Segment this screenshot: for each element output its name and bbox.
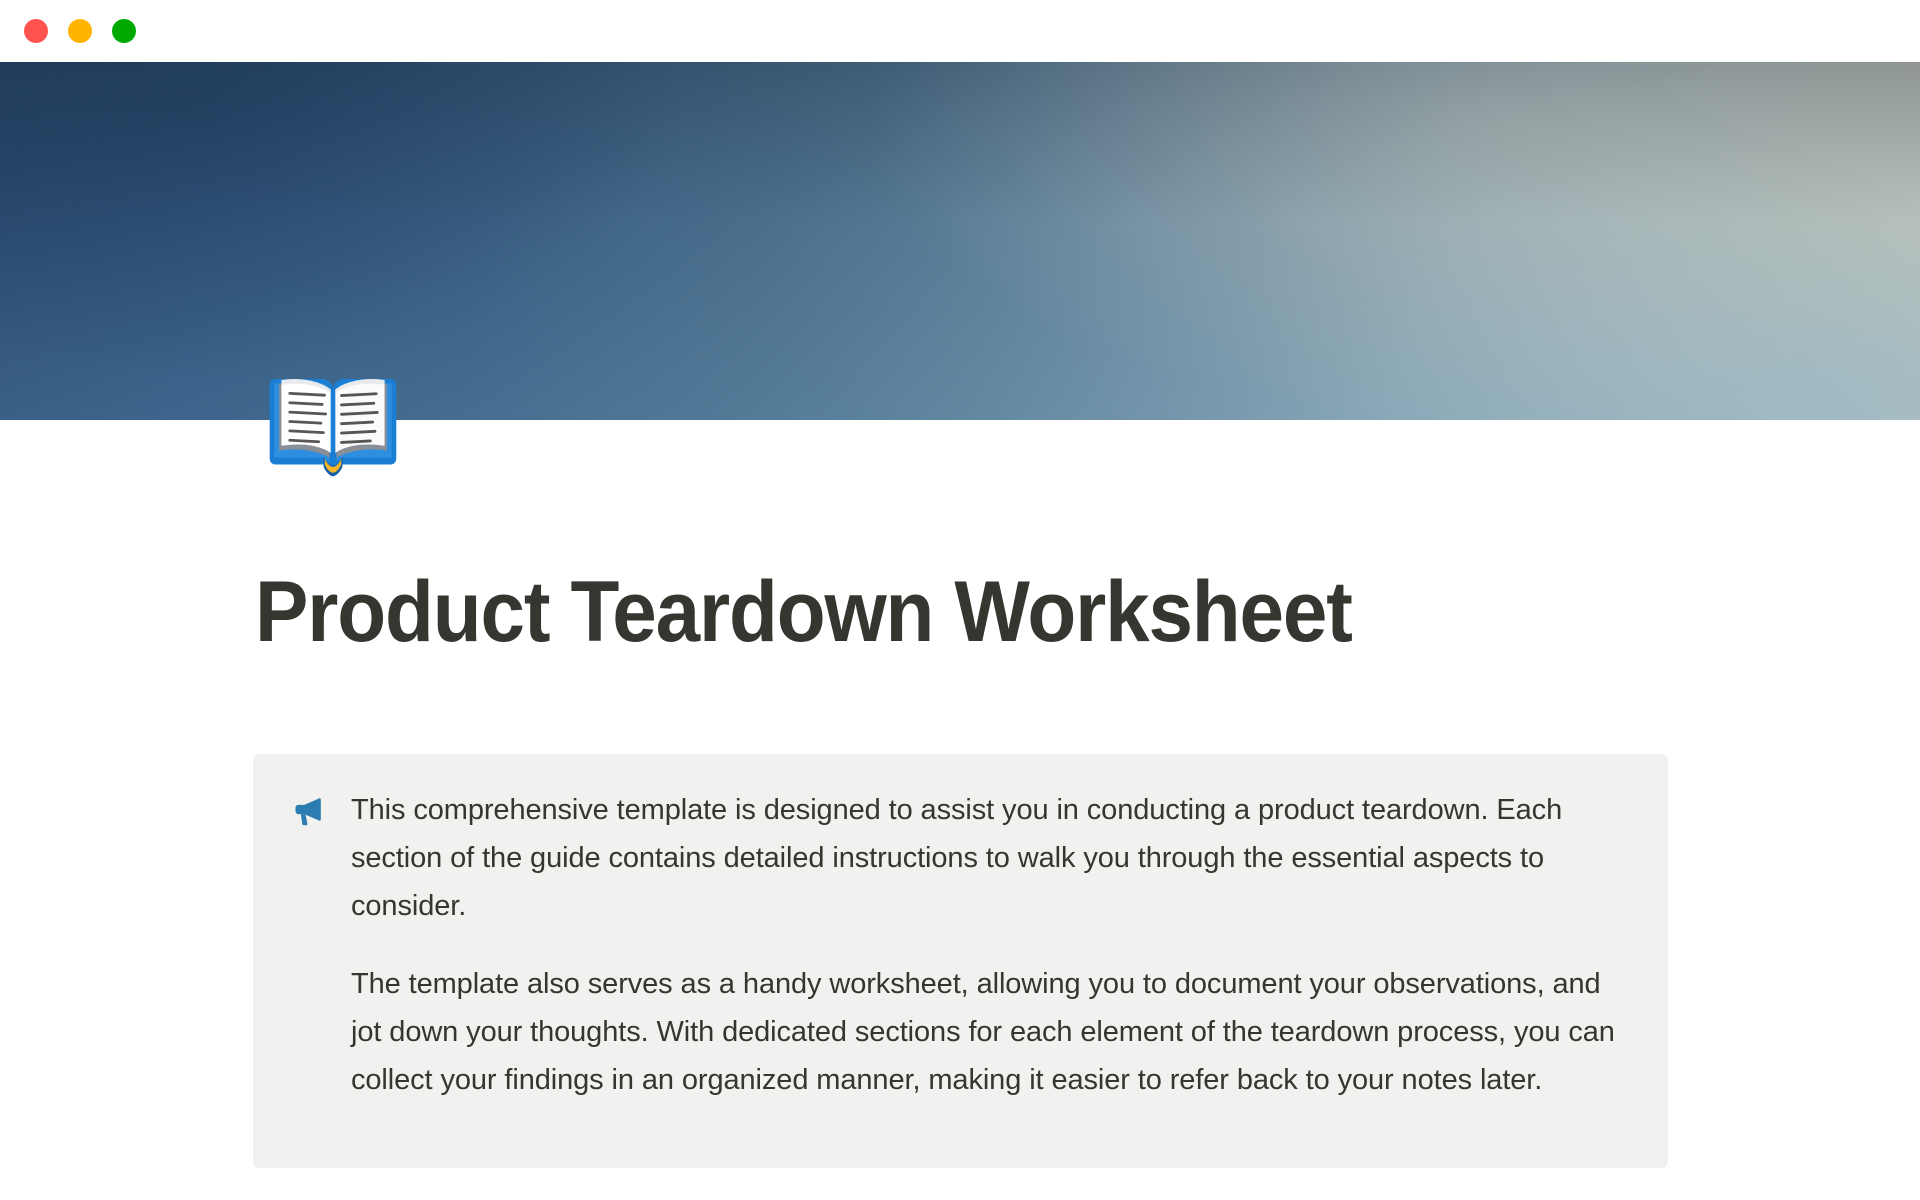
open-book-icon[interactable] (258, 345, 408, 495)
window-close-button[interactable] (24, 19, 48, 43)
page-title[interactable]: Product Teardown Worksheet (255, 567, 1352, 657)
callout-paragraph: The template also serves as a handy work… (351, 960, 1626, 1104)
window-minimize-button[interactable] (68, 19, 92, 43)
app-window: Product Teardown Worksheet This comprehe… (0, 0, 1920, 1200)
window-maximize-button[interactable] (112, 19, 136, 43)
window-titlebar (0, 0, 1920, 62)
callout-paragraph: This comprehensive template is designed … (351, 786, 1626, 930)
callout-text: This comprehensive template is designed … (351, 784, 1626, 1104)
window-traffic-lights (24, 19, 136, 43)
megaphone-icon (289, 792, 329, 832)
callout-block[interactable]: This comprehensive template is designed … (253, 754, 1668, 1168)
